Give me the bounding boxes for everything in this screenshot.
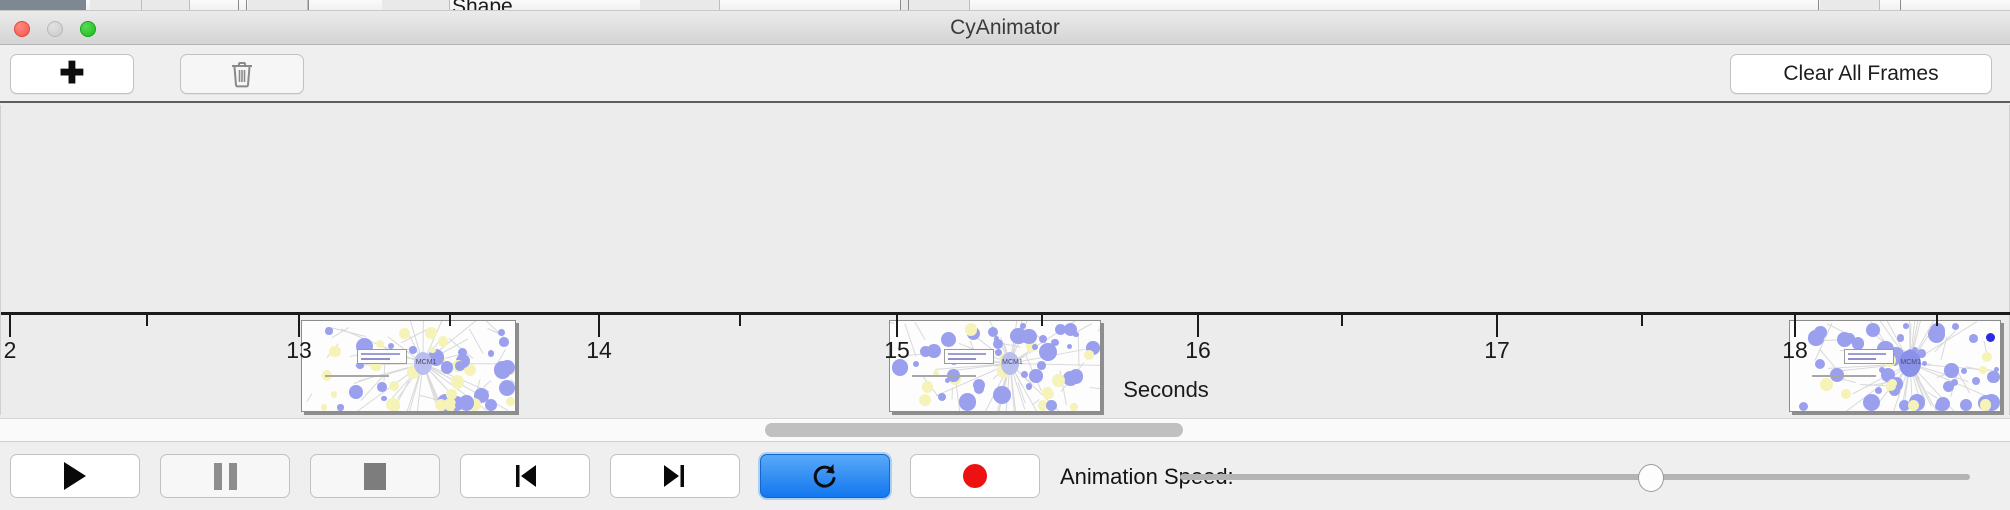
network-node: [1799, 402, 1808, 411]
network-annotation-box: [1844, 349, 1894, 365]
network-node: [337, 404, 343, 410]
network-node: [1952, 323, 1959, 330]
network-node: [1055, 324, 1066, 335]
frame-toolbar: ✚ Clear All Frames: [0, 45, 2010, 103]
network-node: [425, 327, 437, 339]
network-node: [1928, 326, 1946, 344]
network-node: [1070, 403, 1078, 411]
network-node: [499, 337, 509, 347]
network-node: [376, 340, 384, 348]
axis-tick: [1936, 315, 1938, 326]
axis-tick-label: 18: [1782, 337, 1808, 364]
network-node: [1903, 323, 1909, 329]
network-node: [913, 361, 919, 367]
network-node: [429, 347, 435, 353]
animation-speed-slider[interactable]: [1180, 474, 1970, 480]
loop-icon: [810, 461, 840, 491]
network-annotation-text: [361, 358, 390, 360]
network-node: [1866, 323, 1880, 337]
axis-tick: [146, 315, 148, 326]
animation-speed-thumb[interactable]: [1638, 464, 1664, 492]
network-node: [500, 360, 515, 375]
network-node: [321, 404, 328, 411]
network-node: [438, 336, 449, 347]
network-node: [1073, 332, 1078, 337]
axis-tick-label: 15: [884, 337, 910, 364]
network-node: [409, 346, 417, 354]
network-edge: [1098, 320, 1101, 332]
network-node: [1020, 323, 1026, 329]
axis-tick: [1641, 315, 1643, 326]
network-node: [498, 329, 505, 336]
clear-all-frames-label: Clear All Frames: [1783, 62, 1938, 86]
network-annotation-text: [1848, 353, 1886, 355]
network-annotation-box: [944, 349, 994, 365]
record-button[interactable]: [910, 454, 1040, 498]
plus-icon: ✚: [59, 59, 84, 89]
record-icon: [963, 464, 987, 488]
play-icon: [64, 462, 86, 490]
network-node: [1037, 361, 1046, 370]
axis-tick: [9, 315, 11, 337]
delete-frame-button[interactable]: [180, 54, 304, 94]
network-node: [441, 361, 454, 374]
network-node: [1961, 368, 1967, 374]
skip-forward-icon: [660, 462, 690, 490]
axis-tick: [739, 315, 741, 326]
network-hub-label: MCM1: [416, 359, 437, 366]
axis-tick: [1197, 315, 1199, 337]
playback-control-bar: Animation Speed:: [0, 441, 2010, 510]
axis-tick: [1041, 315, 1043, 326]
network-node: [994, 336, 1000, 342]
network-node: [965, 323, 977, 335]
network-edge: [333, 327, 367, 336]
network-node: [1982, 352, 1992, 362]
network-node: [1067, 344, 1072, 349]
axis-tick-label: 14: [586, 337, 612, 364]
network-node: [329, 346, 340, 357]
network-node: [1986, 333, 1995, 342]
network-node: [1944, 363, 1959, 378]
loop-button[interactable]: [760, 454, 890, 498]
network-node: [941, 332, 956, 347]
pause-button[interactable]: [160, 454, 290, 498]
network-node: [1837, 332, 1852, 347]
axis-tick-label: 13: [286, 337, 312, 364]
title-bar: CyAnimator: [0, 11, 2010, 45]
network-annotation-text: [361, 353, 400, 355]
stop-button[interactable]: [310, 454, 440, 498]
network-node: [1969, 334, 1978, 343]
axis-tick-label: 16: [1185, 337, 1211, 364]
network-node: [1979, 366, 1987, 374]
timeline-panel[interactable]: MCM1MCM1MCM1 2131415161718 Seconds: [0, 105, 2010, 415]
pause-icon: [214, 463, 237, 490]
network-edge: [1076, 323, 1093, 333]
axis-tick: [1794, 315, 1796, 337]
network-annotation-text: [948, 358, 976, 360]
network-edge: [1994, 320, 1999, 322]
window-title: CyAnimator: [0, 11, 2010, 45]
network-node: [1897, 334, 1905, 342]
play-button[interactable]: [10, 454, 140, 498]
add-frame-button[interactable]: ✚: [10, 54, 134, 94]
cyanimator-window: Shape CyAnimator ✚ Clear All Frames MCM1…: [0, 0, 2010, 510]
axis-tick-label: 2: [4, 337, 17, 364]
timeline-scrollbar[interactable]: [0, 419, 2010, 441]
skip-backward-icon: [510, 462, 540, 490]
axis-tick: [1341, 315, 1343, 326]
scrollbar-thumb[interactable]: [765, 423, 1183, 437]
skip-forward-button[interactable]: [610, 454, 740, 498]
axis-tick-label: 17: [1484, 337, 1510, 364]
network-node: [1815, 359, 1825, 369]
network-node: [488, 350, 494, 356]
timeline-axis-line: [1, 312, 2010, 315]
network-edge: [469, 329, 483, 354]
stop-icon: [364, 463, 386, 490]
axis-tick: [598, 315, 600, 337]
network-node: [1808, 330, 1823, 345]
axis-tick: [896, 315, 898, 337]
network-annotation-box: [357, 349, 408, 365]
axis-tick: [1496, 315, 1498, 337]
network-annotation-text: [948, 353, 986, 355]
background-window-strip: Shape: [0, 0, 2010, 11]
network-node: [1084, 350, 1093, 359]
network-hub-label: MCM1: [1900, 359, 1921, 366]
network-node: [455, 361, 465, 371]
network-edge: [915, 322, 926, 340]
network-edge: [889, 320, 894, 324]
network-node: [325, 327, 332, 334]
skip-backward-button[interactable]: [460, 454, 590, 498]
axis-tick: [449, 315, 451, 326]
network-node: [1039, 343, 1057, 361]
network-annotation-text: [1848, 358, 1876, 360]
network-node: [1032, 344, 1038, 350]
clear-all-frames-button[interactable]: Clear All Frames: [1730, 54, 1992, 94]
network-edge: [1010, 363, 1101, 366]
network-hub-label: MCM1: [1002, 359, 1023, 366]
axis-title: Seconds: [1, 377, 2010, 403]
axis-tick: [298, 315, 300, 337]
trash-icon: [230, 60, 254, 88]
